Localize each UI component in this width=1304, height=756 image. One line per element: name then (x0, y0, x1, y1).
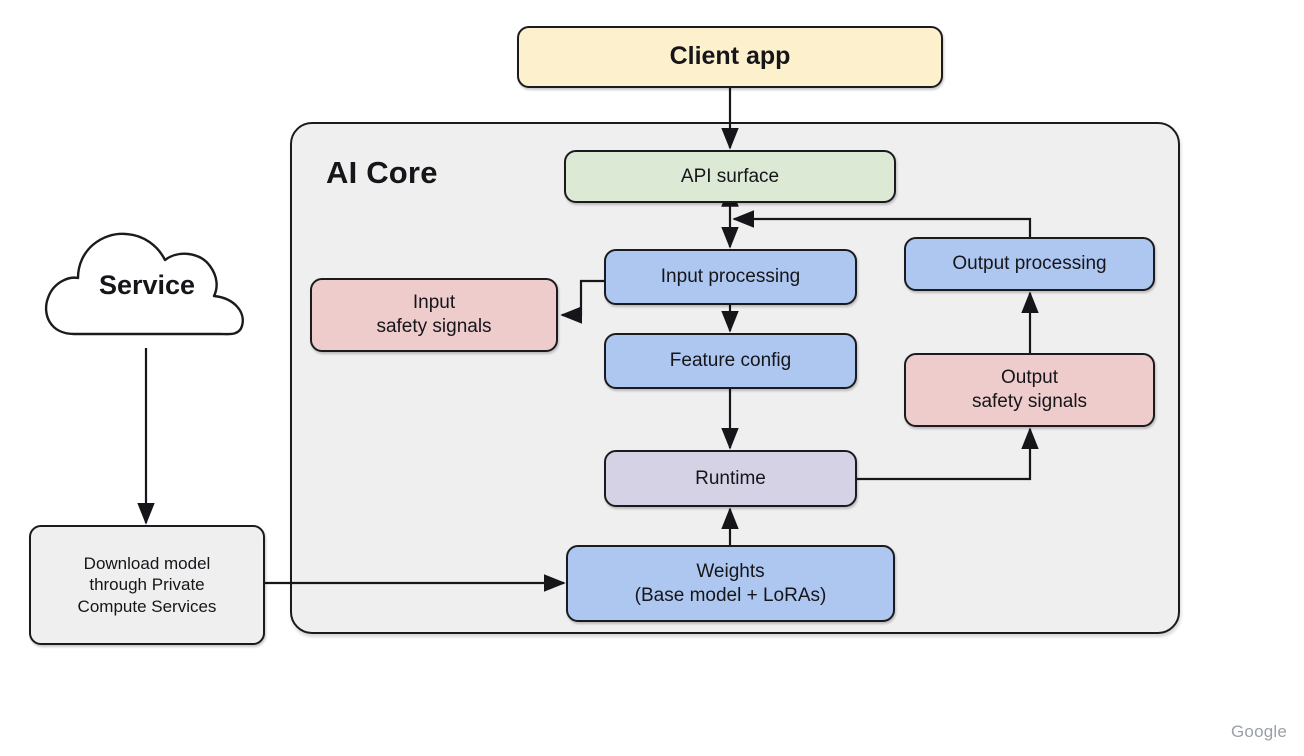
node-label: Output safety signals (972, 366, 1087, 414)
service-label: Service (38, 270, 256, 301)
node-feature-config: Feature config (604, 333, 857, 389)
ai-core-label: AI Core (326, 155, 438, 191)
node-api-surface: API surface (564, 150, 896, 203)
node-label: API surface (681, 165, 779, 189)
node-output-processing: Output processing (904, 237, 1155, 291)
node-label: Input safety signals (376, 291, 491, 339)
node-client-app: Client app (517, 26, 943, 88)
node-output-safety-signals: Output safety signals (904, 353, 1155, 427)
node-weights: Weights (Base model + LoRAs) (566, 545, 895, 622)
node-label: Input processing (661, 265, 800, 289)
node-input-safety-signals: Input safety signals (310, 278, 558, 352)
node-label: Download model through Private Compute S… (78, 553, 217, 617)
node-label: Output processing (952, 252, 1106, 276)
node-label: Feature config (670, 349, 791, 373)
node-label: Client app (670, 41, 791, 72)
node-input-processing: Input processing (604, 249, 857, 305)
diagram-canvas: AI Core Service Client appDownload model… (0, 0, 1304, 756)
node-label: Runtime (695, 467, 766, 491)
node-runtime: Runtime (604, 450, 857, 507)
service-cloud: Service (38, 222, 256, 350)
node-download-model: Download model through Private Compute S… (29, 525, 265, 645)
node-label: Weights (Base model + LoRAs) (635, 560, 827, 608)
google-watermark: Google (1231, 722, 1287, 742)
